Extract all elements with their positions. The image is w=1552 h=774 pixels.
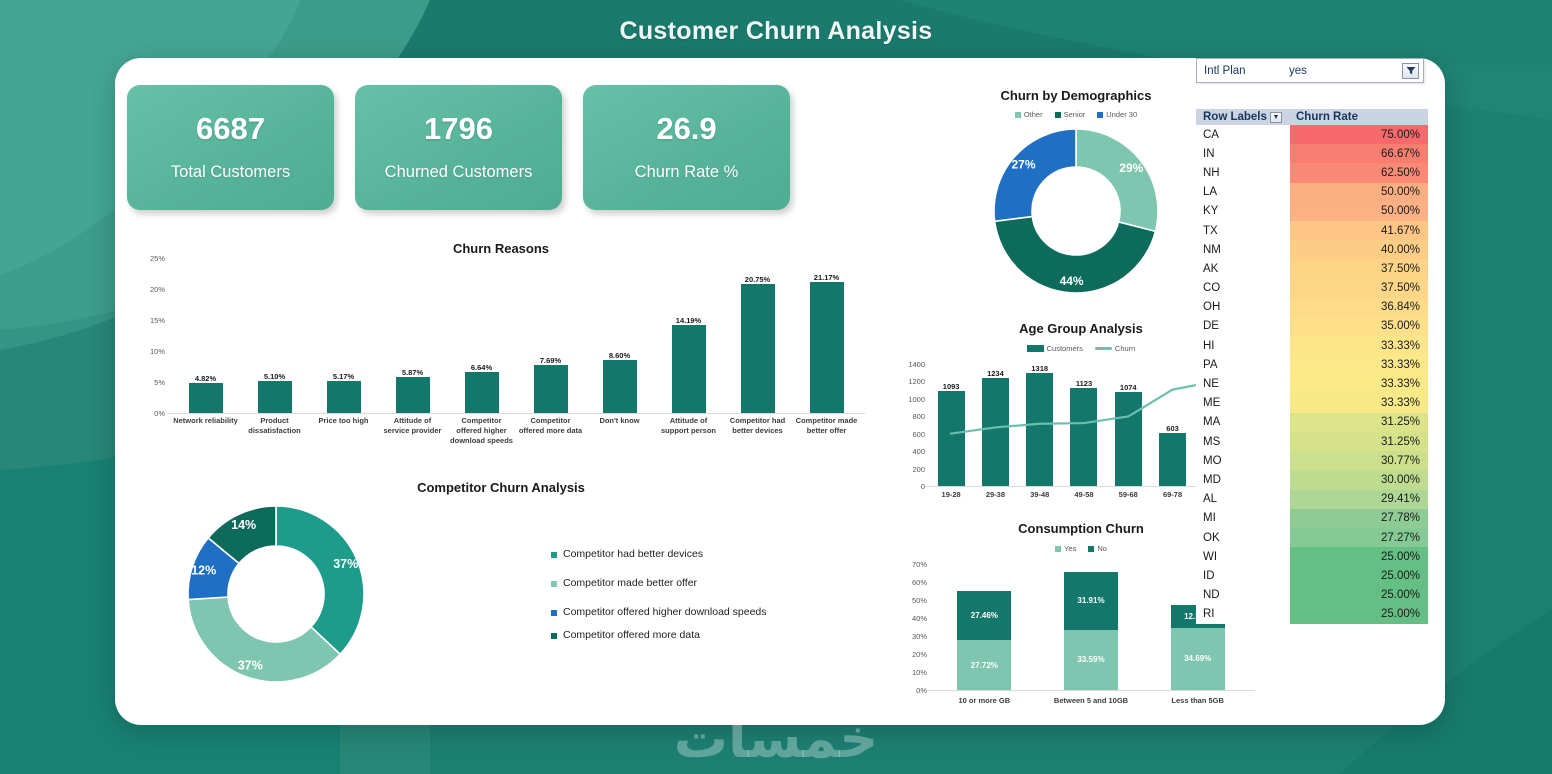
bar-value-label: 4.82% [195,374,216,383]
legend-item: Churn [1095,344,1135,353]
churn-rate-cell: 31.25% [1290,432,1428,451]
table-row: CA75.00% [1196,125,1428,144]
category-label: Product dissatisfaction [240,416,309,446]
category-label: Competitor offered more data [516,416,585,446]
bar [327,381,361,413]
row-label: OH [1196,298,1290,317]
bar-value-label: 20.75% [745,275,770,284]
churn-rate-cell: 50.00% [1290,202,1428,221]
bar [672,325,706,413]
column-header-churn-rate[interactable]: Churn Rate [1290,109,1428,125]
bar-value-label: 5.17% [333,372,354,381]
bar [741,284,775,413]
column-header-label: Row Labels [1203,111,1267,123]
filter-and-pivot-panel: Intl Plan yes Row Labels ▼ Churn Rate CA… [1196,58,1428,624]
pie-slice-label: 29% [1119,161,1143,175]
pie-slice-label: 12% [191,564,216,578]
filter-clear-icon[interactable] [1402,63,1419,79]
kpi-label: Churn Rate % [635,163,739,182]
bar-value-label: 6.64% [471,363,492,372]
table-row: MD30.00% [1196,470,1428,489]
row-label: AK [1196,259,1290,278]
legend-color-swatch [1015,112,1021,118]
plot-area: 10931234131811231074603242 [929,364,1239,486]
category-label: 59-68 [1106,490,1150,500]
category-label: 29-38 [973,490,1017,500]
row-label: ND [1196,586,1290,605]
bar-segment-yes: 27.72% [957,640,1011,690]
bar-column: 4.82% [171,258,240,413]
x-axis-labels: Network reliabilityProduct dissatisfacti… [171,416,861,446]
row-label: TX [1196,221,1290,240]
pie-slice [276,506,364,654]
table-row: KY50.00% [1196,202,1428,221]
slicer-intl-plan[interactable]: Intl Plan yes [1196,58,1424,83]
row-label: MO [1196,451,1290,470]
row-label: ME [1196,394,1290,413]
churn-rate-cell: 33.33% [1290,394,1428,413]
churn-rate-cell: 40.00% [1290,240,1428,259]
row-label: RI [1196,605,1290,624]
churn-rate-cell: 25.00% [1290,547,1428,566]
category-label: Attitude of service provider [378,416,447,446]
pie-slice [188,597,340,682]
legend-label: Customers [1047,344,1083,353]
table-row: OK27.27% [1196,528,1428,547]
churn-rate-cell: 50.00% [1290,183,1428,202]
legend-item: Under 30 [1097,110,1137,119]
row-label: AL [1196,490,1290,509]
category-label: Between 5 and 10GB [1038,696,1145,706]
pie-slice-label: 37% [238,659,263,673]
legend-color-swatch [551,552,557,558]
legend-label: Competitor offered more data [563,629,700,641]
table-row: MA31.25% [1196,413,1428,432]
bar [396,377,430,413]
table-row: ID25.00% [1196,566,1428,585]
table-row: CO37.50% [1196,279,1428,298]
category-label: 39-48 [1018,490,1062,500]
bar-column: 5.10% [240,258,309,413]
kpi-label: Churned Customers [385,163,533,182]
bar-segment-yes: 33.59% [1064,630,1118,690]
row-label: NH [1196,163,1290,182]
legend-label: No [1097,544,1107,553]
bar-column: 5.17% [309,258,378,413]
legend-color-swatch [1097,112,1103,118]
table-row: WI25.00% [1196,547,1428,566]
row-label: MD [1196,470,1290,489]
kpi-value: 6687 [196,113,265,144]
table-row: IN66.67% [1196,144,1428,163]
churn-rate-cell: 37.50% [1290,279,1428,298]
bar-column: 6.64% [447,258,516,413]
table-row: RI25.00% [1196,605,1428,624]
plot-area: 4.82%5.10%5.17%5.87%6.64%7.69%8.60%14.19… [171,258,861,413]
category-label: 10 or more GB [931,696,1038,706]
category-label: Competitor offered higher download speed… [447,416,516,446]
legend-color-swatch [551,610,557,616]
legend-item: Competitor made better offer [551,577,851,589]
churn-rate-cell: 75.00% [1290,125,1428,144]
row-label: PA [1196,355,1290,374]
pie-slice-label: 14% [231,518,256,532]
slicer-selected-value: yes [1289,65,1402,77]
legend-color-swatch [1027,345,1044,352]
table-row: MO30.77% [1196,451,1428,470]
x-axis-labels: 19-2829-3839-4849-5859-6869-7879-88 [929,490,1239,500]
bar-column: 27.46%27.72% [931,564,1038,690]
bar-column: 31.91%33.59% [1038,564,1145,690]
row-label: DE [1196,317,1290,336]
pie-slice-label: 27% [1011,158,1035,172]
bar-column: 20.75% [723,258,792,413]
bar-value-label: 7.69% [540,356,561,365]
pie-slice-label: 44% [1060,274,1084,288]
dashboard-header: Customer Churn Analysis [0,0,1552,62]
table-row: DE35.00% [1196,317,1428,336]
chart-title: Churn Reasons [311,241,691,256]
table-row: AK37.50% [1196,259,1428,278]
bar-value-label: 8.60% [609,351,630,360]
pivot-table: Row Labels ▼ Churn Rate CA75.00%IN66.67%… [1196,109,1428,624]
bar [603,360,637,413]
pie-slice-label: 37% [333,557,358,571]
row-label: WI [1196,547,1290,566]
category-label: Less than 5GB [1144,696,1251,706]
bar [465,372,499,413]
category-label: 49-58 [1062,490,1106,500]
bar [810,282,844,413]
churn-rate-cell: 41.67% [1290,221,1428,240]
churn-rate-cell: 25.00% [1290,566,1428,585]
legend-label: Under 30 [1106,110,1137,119]
table-row: PA33.33% [1196,355,1428,374]
row-label: MA [1196,413,1290,432]
chart-legend: Competitor had better devicesCompetitor … [551,548,851,658]
table-row: MS31.25% [1196,432,1428,451]
churn-rate-cell: 35.00% [1290,317,1428,336]
category-label: Price too high [309,416,378,446]
legend-label: Competitor made better offer [563,577,697,589]
stacked-bar: 31.91%33.59% [1064,572,1118,690]
legend-label: Yes [1064,544,1076,553]
row-label: MS [1196,432,1290,451]
legend-label: Senior [1064,110,1086,119]
row-label: CO [1196,279,1290,298]
axis-baseline [927,690,1255,691]
legend-item: Competitor offered more data [551,629,851,641]
bar-segment-no: 31.91% [1064,572,1118,629]
table-row: LA50.00% [1196,183,1428,202]
legend-item: Yes [1055,544,1076,553]
legend-item: No [1088,544,1107,553]
churn-trend-line [929,364,1239,486]
legend-color-swatch [551,633,557,639]
y-axis-labels: 0200400600800100012001400 [893,364,925,486]
table-row: NM40.00% [1196,240,1428,259]
axis-baseline [167,413,865,414]
table-row: OH36.84% [1196,298,1428,317]
churn-rate-cell: 66.67% [1290,144,1428,163]
legend-item: Senior [1055,110,1086,119]
row-label: LA [1196,183,1290,202]
churn-rate-cell: 36.84% [1290,298,1428,317]
legend-item: Customers [1027,344,1083,353]
row-label: NE [1196,374,1290,393]
column-header-row-labels[interactable]: Row Labels ▼ [1196,109,1290,125]
bar-value-label: 14.19% [676,316,701,325]
bar-value-label: 5.10% [264,372,285,381]
bar-column: 14.19% [654,258,723,413]
bar-segment-yes: 34.69% [1171,628,1225,690]
y-axis-labels: 0%5%10%15%20%25% [139,258,165,413]
kpi-value: 1796 [424,113,493,144]
donut-chart: 29%44%27% [986,126,1166,296]
kpi-card-churned-customers: 1796 Churned Customers [355,85,562,210]
bar [258,381,292,413]
legend-item: Competitor offered higher download speed… [551,606,851,618]
churn-rate-cell: 29.41% [1290,490,1428,509]
bar-value-label: 21.17% [814,273,839,282]
chart-churn-reasons[interactable]: Churn Reasons 0%5%10%15%20%25% 4.82%5.10… [131,236,871,471]
chart-competitor-churn-analysis[interactable]: Competitor Churn Analysis 37%37%12%14% C… [131,476,871,714]
churn-rate-cell: 62.50% [1290,163,1428,182]
y-axis-labels: 0%10%20%30%40%50%60%70% [899,564,927,690]
pie-slice [1076,129,1158,231]
table-row: NE33.33% [1196,374,1428,393]
churn-rate-cell: 25.00% [1290,605,1428,624]
churn-rate-cell: 31.25% [1290,413,1428,432]
row-label: KY [1196,202,1290,221]
kpi-value: 26.9 [656,113,716,144]
churn-rate-cell: 33.33% [1290,336,1428,355]
bar-column: 5.87% [378,258,447,413]
churn-rate-cell: 37.50% [1290,259,1428,278]
legend-color-swatch [1055,112,1061,118]
bar-column: 8.60% [585,258,654,413]
category-label: Don't know [585,416,654,446]
table-row: ND25.00% [1196,586,1428,605]
row-label: OK [1196,528,1290,547]
row-label: IN [1196,144,1290,163]
bar-column: 21.17% [792,258,861,413]
bar [534,365,568,413]
bar-value-label: 5.87% [402,368,423,377]
table-row: ME33.33% [1196,394,1428,413]
pivot-header-row: Row Labels ▼ Churn Rate [1196,109,1428,125]
legend-color-swatch [1095,347,1112,350]
bar-column: 7.69% [516,258,585,413]
row-label: ID [1196,566,1290,585]
churn-rate-cell: 27.78% [1290,509,1428,528]
table-row: NH62.50% [1196,163,1428,182]
churn-rate-cell: 30.00% [1290,470,1428,489]
row-label: NM [1196,240,1290,259]
category-label: 69-78 [1150,490,1194,500]
kpi-card-total-customers: 6687 Total Customers [127,85,334,210]
legend-label: Competitor offered higher download speed… [563,606,767,618]
filter-icon[interactable]: ▼ [1270,112,1282,123]
legend-color-swatch [1088,546,1094,552]
legend-item: Competitor had better devices [551,548,851,560]
table-row: TX41.67% [1196,221,1428,240]
row-label: CA [1196,125,1290,144]
legend-label: Other [1024,110,1043,119]
pie-slice [994,129,1076,221]
slicer-field-label: Intl Plan [1197,65,1289,77]
stacked-bar: 27.46%27.72% [957,591,1011,690]
legend-color-swatch [551,581,557,587]
churn-rate-cell: 25.00% [1290,586,1428,605]
category-label: Competitor had better devices [723,416,792,446]
churn-rate-cell: 33.33% [1290,374,1428,393]
row-label: MI [1196,509,1290,528]
table-row: AL29.41% [1196,490,1428,509]
legend-label: Competitor had better devices [563,548,703,560]
legend-item: Other [1015,110,1043,119]
table-row: HI33.33% [1196,336,1428,355]
x-axis-labels: 10 or more GBBetween 5 and 10GBLess than… [931,696,1251,706]
category-label: Network reliability [171,416,240,446]
kpi-card-churn-rate: 26.9 Churn Rate % [583,85,790,210]
category-label: Competitor made better offer [792,416,861,446]
churn-rate-cell: 27.27% [1290,528,1428,547]
row-label: HI [1196,336,1290,355]
bar-segment-no: 27.46% [957,591,1011,640]
churn-rate-cell: 33.33% [1290,355,1428,374]
donut-chart: 37%37%12%14% [161,494,391,694]
legend-color-swatch [1055,546,1061,552]
table-row: MI27.78% [1196,509,1428,528]
kpi-row: 6687 Total Customers 1796 Churned Custom… [127,85,790,210]
chart-title: Competitor Churn Analysis [311,480,691,495]
kpi-label: Total Customers [171,163,290,182]
page-title: Customer Churn Analysis [620,17,933,46]
category-label: 19-28 [929,490,973,500]
bar [189,383,223,413]
category-label: Attitude of support person [654,416,723,446]
churn-rate-cell: 30.77% [1290,451,1428,470]
legend-label: Churn [1115,344,1135,353]
